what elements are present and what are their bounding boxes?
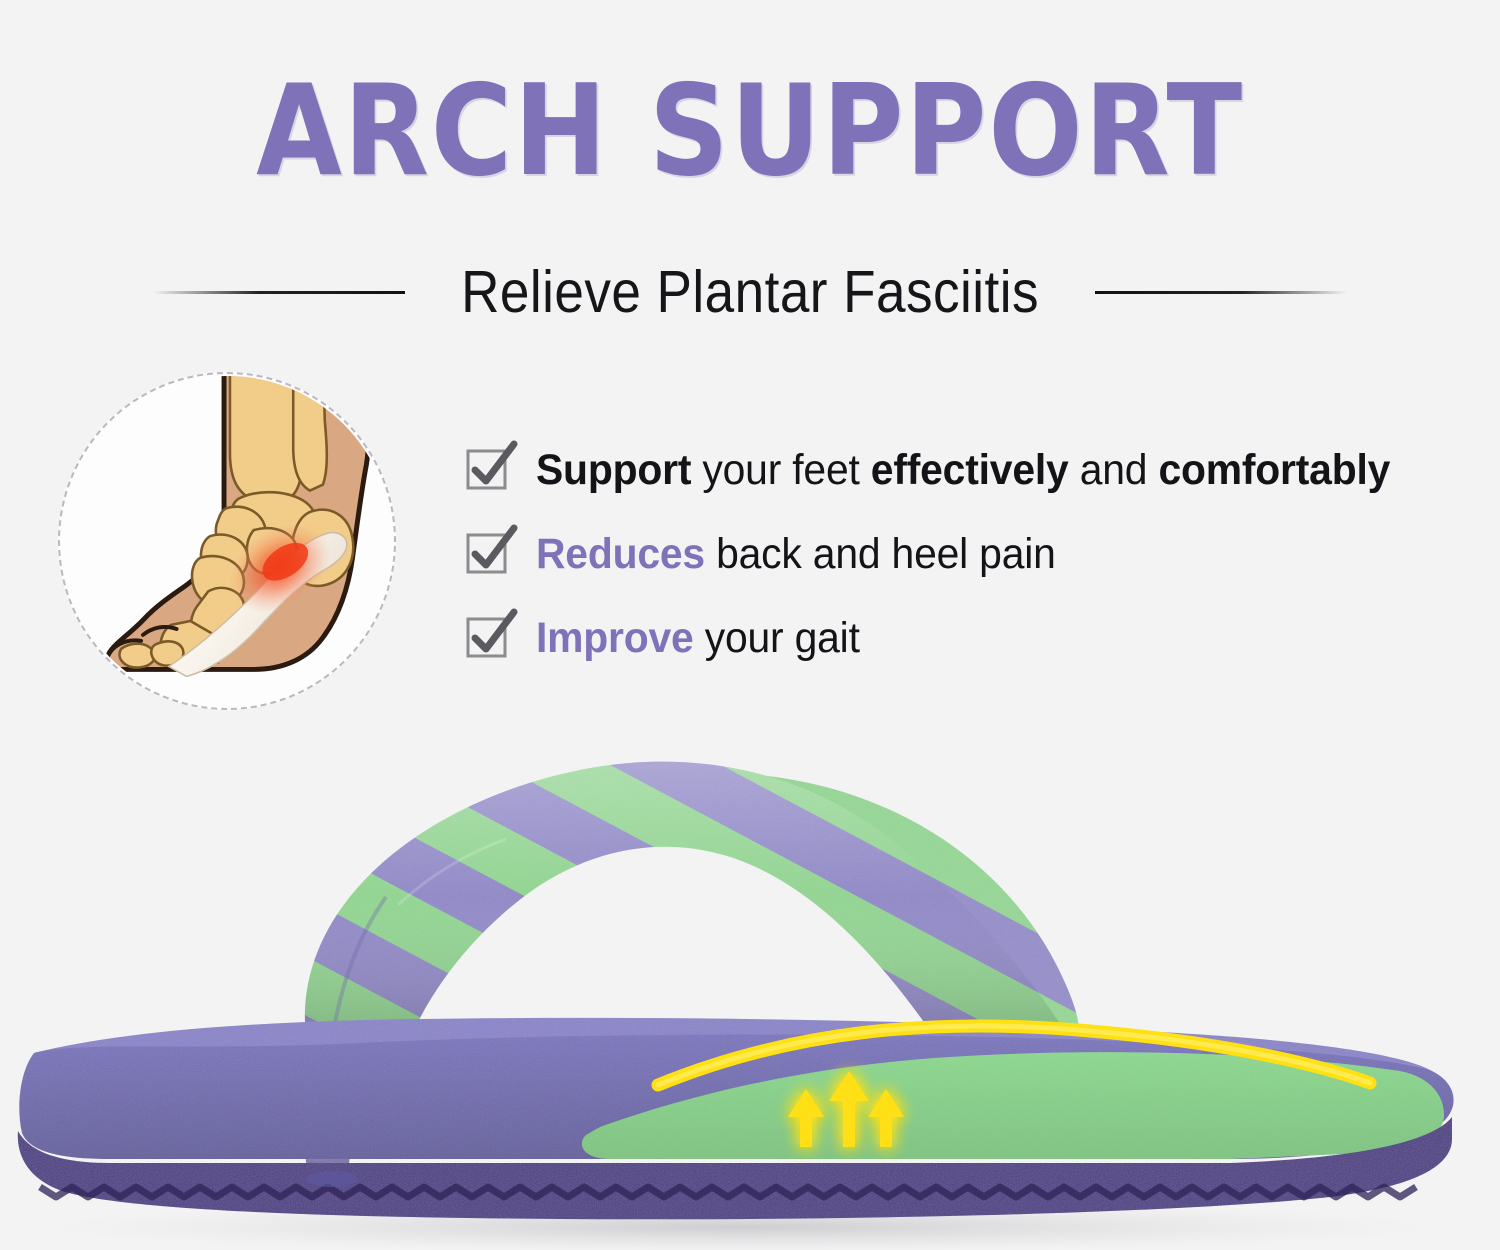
- phalanx-bone: [120, 644, 155, 668]
- page-title: ARCH SUPPORT: [90, 68, 1410, 194]
- tibia-bone: [230, 374, 302, 500]
- checkbox-checked-icon: [466, 531, 512, 577]
- foot-anatomy-illustration: [58, 372, 396, 710]
- checkbox-checked-icon: [466, 615, 512, 661]
- subtitle-row: Relieve Plantar Fasciitis: [0, 257, 1500, 327]
- page-subtitle: Relieve Plantar Fasciitis: [461, 258, 1039, 326]
- product-feature-image: ARCH SUPPORT Relieve Plantar Fasciitis: [0, 0, 1500, 1250]
- fibula-bone: [293, 374, 327, 491]
- benefit-text-reduces: Reduces back and heel pain: [536, 530, 1056, 579]
- toe-post-hole: [306, 1171, 358, 1187]
- divider-line-left: [153, 291, 405, 294]
- benefit-item-reduces: Reduces back and heel pain: [466, 512, 1466, 596]
- benefit-list: Support your feet effectively and comfor…: [466, 428, 1466, 680]
- product-image-sandal: [0, 735, 1500, 1250]
- benefit-text-support: Support your feet effectively and comfor…: [536, 446, 1390, 495]
- benefit-item-improve: Improve your gait: [466, 596, 1466, 680]
- sandal-svg: [0, 735, 1500, 1250]
- benefit-text-improve: Improve your gait: [536, 614, 860, 663]
- checkbox-checked-icon: [466, 447, 512, 493]
- divider-line-right: [1095, 291, 1347, 294]
- foot-anatomy-svg: [60, 374, 394, 708]
- benefit-item-support: Support your feet effectively and comfor…: [466, 428, 1466, 512]
